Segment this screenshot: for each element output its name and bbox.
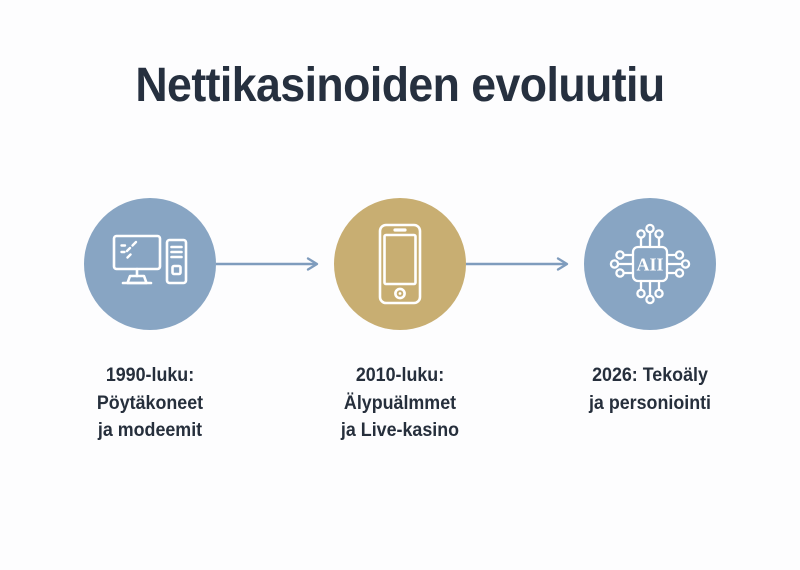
timeline-captions: 1990-luku: Pöytäkoneet ja modeemit 2010-… (0, 362, 800, 472)
page-title: Nettikasinoiden evoluutiu (28, 60, 772, 113)
smartphone-icon (378, 223, 422, 305)
caption-2010s: 2010-luku: Älypuälmmet ja Live-kasino (292, 362, 508, 445)
ai-chip-icon: AII (608, 222, 692, 306)
caption-line: 2026: Tekoäly (542, 362, 758, 390)
timeline-node-2010s[interactable] (334, 198, 466, 330)
timeline-arrow-1 (216, 254, 326, 274)
caption-line: ja modeemit (42, 417, 258, 445)
caption-line: ja Live-kasino (292, 417, 508, 445)
timeline-row: AII (0, 198, 800, 330)
caption-2026: 2026: Tekoäly ja personiointi (542, 362, 758, 417)
caption-line: ja personiointi (542, 390, 758, 418)
timeline-arrow-2 (466, 254, 576, 274)
caption-line: 1990-luku: (42, 362, 258, 390)
infographic-canvas: Nettikasinoiden evoluutiu (0, 0, 800, 570)
caption-line: Älypuälmmet (292, 390, 508, 418)
timeline-node-1990s[interactable] (84, 198, 216, 330)
timeline-node-2026[interactable]: AII (584, 198, 716, 330)
desktop-computer-icon (112, 233, 188, 295)
ai-chip-label: AII (636, 255, 663, 275)
caption-1990s: 1990-luku: Pöytäkoneet ja modeemit (42, 362, 258, 445)
caption-line: Pöytäkoneet (42, 390, 258, 418)
caption-line: 2010-luku: (292, 362, 508, 390)
